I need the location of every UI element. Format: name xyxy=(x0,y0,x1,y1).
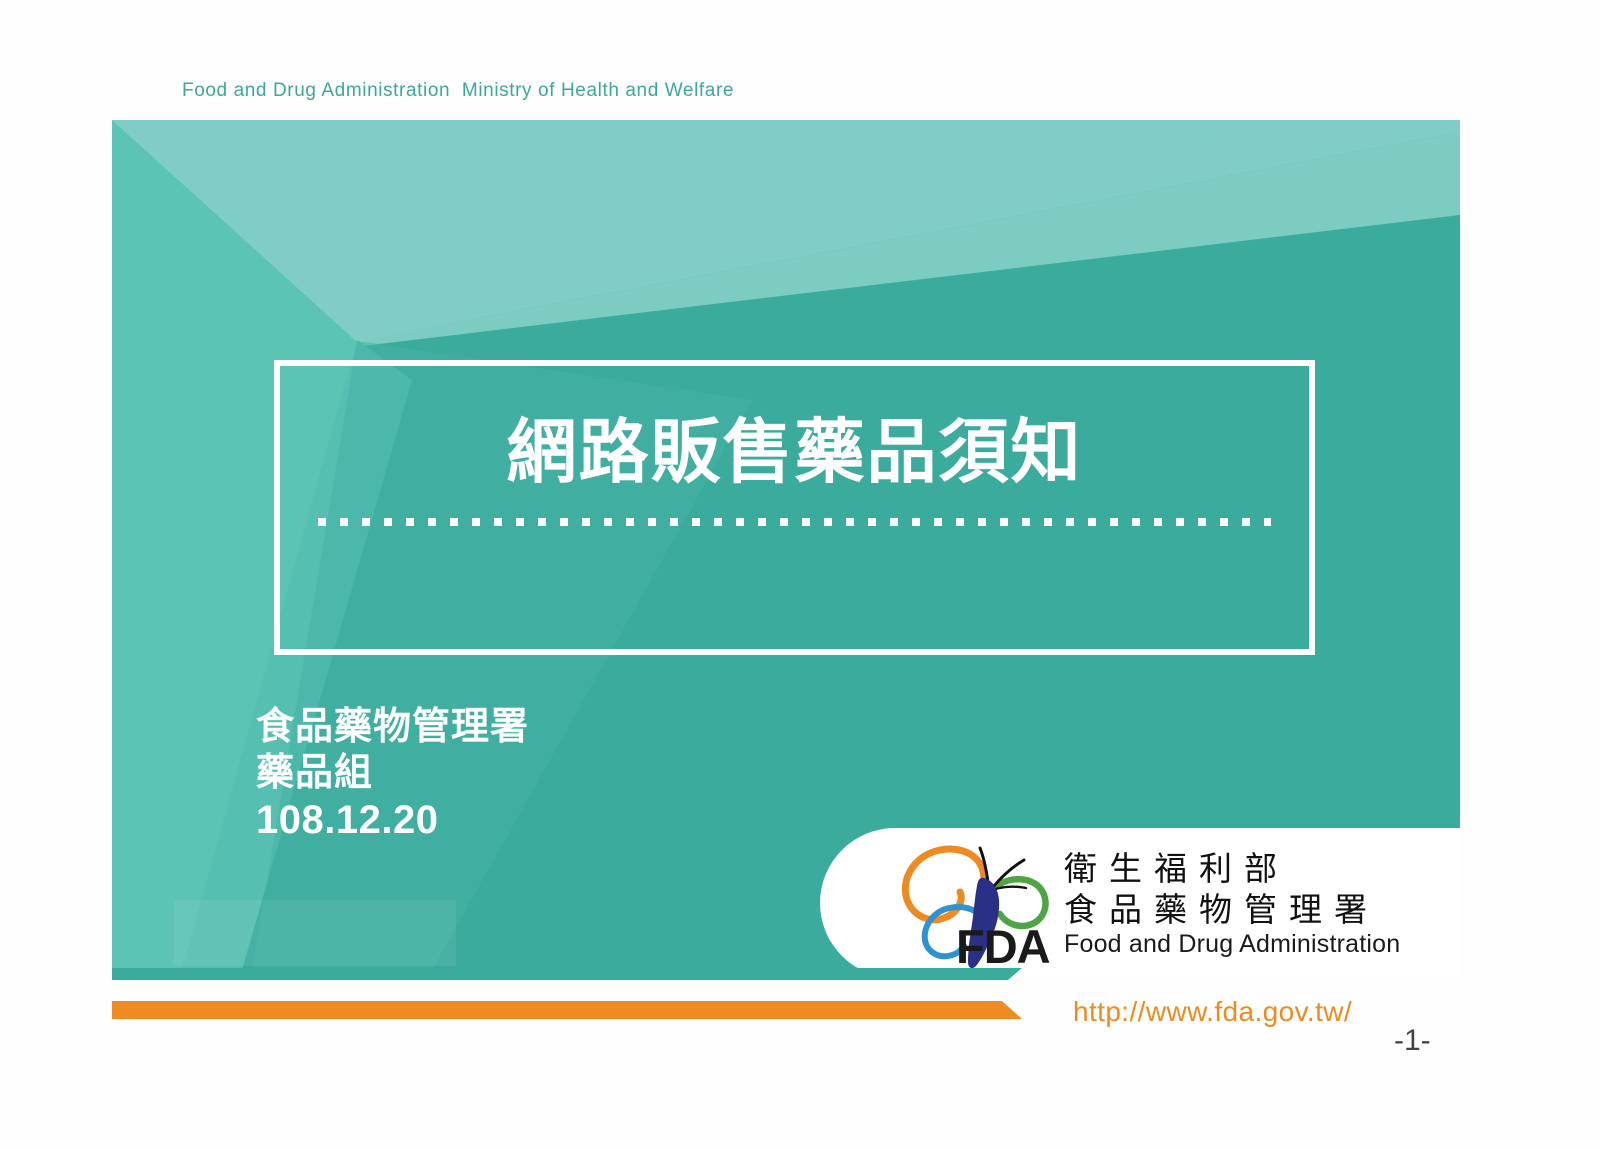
title-frame: 網路販售藥品須知 xyxy=(274,360,1315,655)
fda-logo-plate: FDA 衛生福利部 食品藥物管理署 Food and Drug Administ… xyxy=(820,828,1460,978)
fda-website-url[interactable]: http://www.fda.gov.tw/ xyxy=(1073,996,1352,1028)
page-number: -1- xyxy=(1394,1024,1431,1058)
subtitle-line-1: 食品藥物管理署 xyxy=(256,703,529,749)
header-agency-line: Food and Drug Administration Ministry of… xyxy=(182,80,734,102)
fda-cn-line-2: 食品藥物管理署 xyxy=(1064,890,1400,931)
fda-butterfly-icon: FDA xyxy=(880,838,1058,970)
slide-page: Food and Drug Administration Ministry of… xyxy=(0,0,1600,1149)
footer-orange-bar xyxy=(112,1001,1022,1019)
page-title: 網路販售藥品須知 xyxy=(280,414,1309,491)
fda-wordmark: FDA xyxy=(956,919,1050,974)
placeholder-box xyxy=(174,900,456,966)
subtitle-date: 108.12.20 xyxy=(256,796,529,845)
subtitle-line-2: 藥品組 xyxy=(256,749,529,795)
fda-cn-line-1: 衛生福利部 xyxy=(1064,849,1400,890)
fda-logo-text: 衛生福利部 食品藥物管理署 Food and Drug Administrati… xyxy=(1064,849,1400,958)
subtitle-block: 食品藥物管理署 藥品組 108.12.20 xyxy=(256,703,529,845)
title-dotted-divider xyxy=(318,518,1271,526)
footer-teal-bar xyxy=(112,968,1022,980)
fda-en-line: Food and Drug Administration xyxy=(1064,931,1400,959)
